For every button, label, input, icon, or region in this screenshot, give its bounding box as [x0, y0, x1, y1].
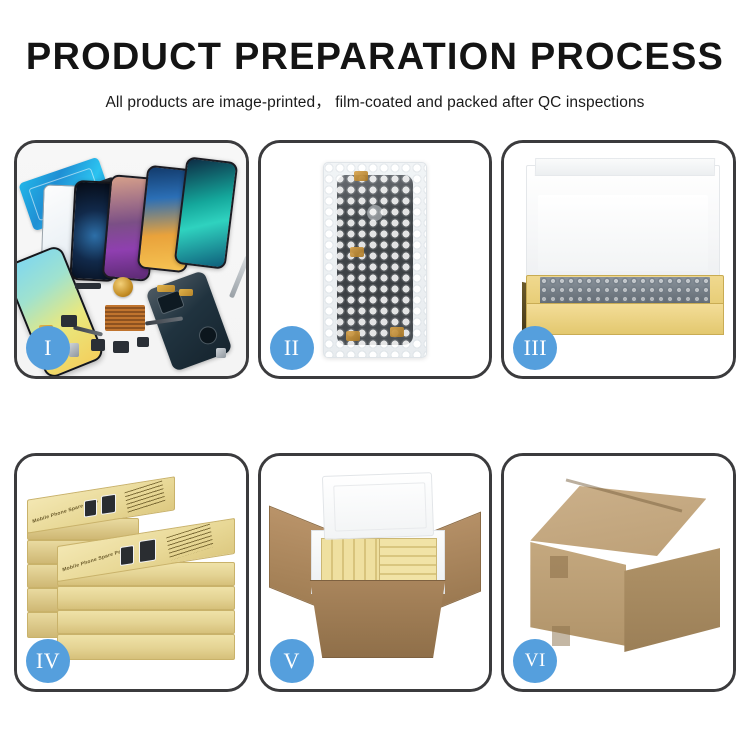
copper-shield-part: [105, 305, 145, 331]
small-part-bar: [75, 283, 101, 289]
carton-left-face: [530, 542, 626, 646]
process-step-panel-3: III: [501, 140, 736, 379]
tape-strip: [390, 327, 404, 337]
bubble-wrap-bag: [323, 162, 427, 358]
bubble-texture: [324, 163, 426, 357]
product-preparation-infographic: PRODUCT PREPARATION PROCESS All products…: [0, 0, 750, 750]
carton-body: [301, 580, 455, 658]
step-badge-1: I: [26, 326, 70, 370]
process-step-panel-4: Mobile Phone Spare Parts Mobile Phone Sp…: [14, 453, 249, 692]
carton-right-face: [624, 548, 720, 652]
carton-top-face: [530, 486, 706, 556]
box-stack: Mobile Phone Spare Parts Mobile Phone Sp…: [27, 474, 235, 668]
stacked-box: [57, 586, 235, 610]
small-part-gold-clip: [157, 285, 175, 292]
box-label-phone-graphic: [120, 545, 134, 566]
packed-yellow-boxes: [379, 538, 437, 582]
small-part-button: [137, 337, 149, 347]
tape-strip: [350, 247, 364, 257]
process-step-panel-1: I: [14, 140, 249, 379]
box-front-yellow: [526, 303, 724, 335]
step-badge-4: IV: [26, 639, 70, 683]
step-badge-3: III: [513, 326, 557, 370]
box-label-text: Mobile Phone Spare Parts: [62, 547, 129, 574]
tape-strip: [346, 331, 360, 341]
step-badge-5: V: [270, 639, 314, 683]
foam-sheet-white: [538, 195, 708, 271]
page-subtitle: All products are image-printed， film-coa…: [0, 90, 750, 112]
header: PRODUCT PREPARATION PROCESS All products…: [0, 38, 750, 112]
small-part-camera: [113, 341, 129, 353]
carton-tape-lower: [552, 626, 570, 646]
small-part-square: [61, 315, 77, 327]
box-label-spec-lines: [125, 480, 166, 513]
page-title: PRODUCT PREPARATION PROCESS: [0, 38, 750, 78]
process-step-grid: I II: [14, 140, 736, 692]
box-label-phone-graphic: [84, 499, 97, 518]
small-part-gold-chip: [179, 289, 193, 296]
box-label-phone-graphic: [101, 494, 116, 515]
stacked-box: [57, 610, 235, 634]
small-part-bracket: [91, 339, 105, 351]
box-label-phone-graphic: [139, 538, 156, 563]
process-step-panel-6: VI: [501, 453, 736, 692]
screwdriver-tool: [229, 256, 246, 299]
carton-tape-upper: [550, 556, 568, 578]
small-part-screw: [216, 348, 226, 358]
step-badge-2: II: [270, 326, 314, 370]
gold-connector-part: [113, 277, 133, 297]
step-badge-6: VI: [513, 639, 557, 683]
tape-strip: [354, 171, 368, 181]
process-step-panel-5: V: [258, 453, 493, 692]
foam-cooler-lid: [322, 472, 434, 540]
small-part-silver: [69, 343, 79, 357]
box-label-spec-lines: [166, 524, 213, 561]
process-step-panel-2: II: [258, 140, 493, 379]
stacked-box: [57, 634, 235, 660]
